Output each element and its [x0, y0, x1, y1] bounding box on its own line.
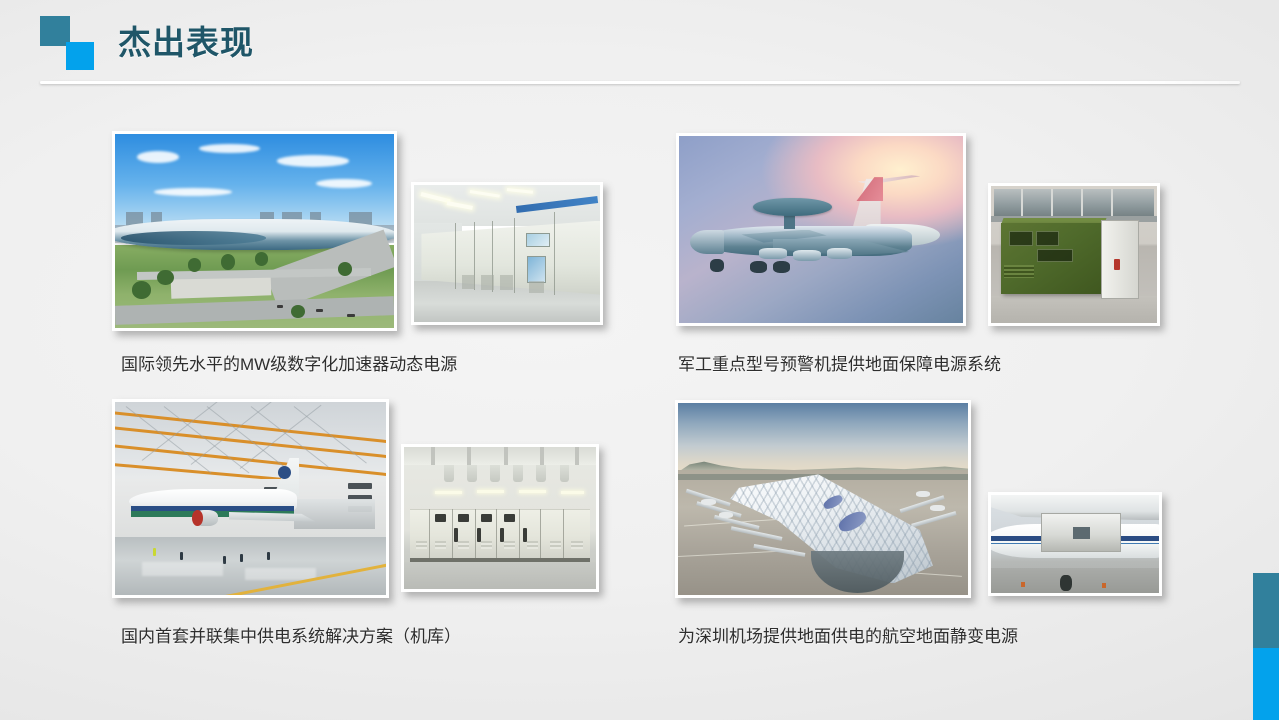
photo-shenzhen-airport-terminal-aerial — [675, 400, 971, 598]
parked-aircraft — [701, 499, 716, 505]
upper-window-band — [994, 189, 1153, 219]
exhaust-duct — [560, 465, 570, 482]
safety-cone — [1021, 582, 1025, 587]
cloud — [316, 179, 372, 189]
vehicle — [277, 305, 283, 308]
edge-accent-bar — [1253, 573, 1279, 720]
window-mullion — [1051, 189, 1053, 219]
cabinet-vent — [571, 541, 583, 550]
photo-military-green-power-shelter — [988, 183, 1160, 326]
oval-facility-glazing — [121, 231, 266, 245]
engine-nacelle — [759, 248, 787, 259]
floor-reflection — [142, 562, 223, 576]
hangar-worker — [267, 552, 270, 560]
cloud — [277, 155, 350, 167]
floor-reflection — [245, 568, 315, 580]
ceiling-beam — [540, 447, 544, 465]
window-mullion — [1021, 189, 1023, 219]
photo-aircraft-hangar-interior — [112, 399, 389, 598]
parked-aircraft — [916, 491, 931, 497]
edge-accent-top — [1253, 573, 1279, 648]
cabinet-vent — [462, 275, 475, 289]
exhaust-duct — [490, 465, 500, 482]
exhaust-duct — [513, 465, 523, 482]
cabinet-indicator-panel — [526, 233, 550, 247]
tree — [132, 281, 152, 298]
shelter-label-plate — [1009, 231, 1033, 245]
exhaust-duct — [536, 465, 546, 482]
cabinet-vent — [527, 541, 539, 550]
cabinet-control-panel — [458, 514, 470, 523]
fluorescent-tube — [561, 491, 584, 494]
photo-parallel-power-cabinet-room — [401, 444, 599, 592]
exhaust-duct — [444, 465, 454, 482]
cabinet-vent — [481, 275, 494, 290]
caption-shenzhen-airport: 为深圳机场提供地面供电的航空地面静变电源 — [678, 622, 1018, 647]
room-floor — [404, 562, 596, 589]
photo-awacs-aircraft-in-flight — [676, 133, 966, 326]
logo-square-bright-icon — [66, 42, 94, 70]
window-mullion — [1081, 189, 1083, 219]
cabinet-vent — [458, 541, 470, 550]
vehicle — [347, 314, 355, 317]
cabinet-vent — [435, 541, 447, 550]
exhaust-duct — [467, 465, 477, 482]
cabinet-seam — [452, 509, 453, 557]
photo-accelerator-power-cabinets — [411, 182, 603, 325]
fluorescent-tube — [477, 490, 504, 493]
parked-aircraft — [719, 512, 734, 518]
window-mullion — [1111, 189, 1113, 219]
vehicle — [316, 309, 323, 312]
safety-cone — [1102, 583, 1106, 588]
jet-bridge-window — [1073, 527, 1090, 539]
nose-landing-gear — [710, 259, 724, 272]
ceiling-beam — [504, 447, 508, 465]
cabinet-vent — [550, 541, 562, 550]
ceiling-beam — [467, 447, 471, 465]
cabinet-seam — [554, 212, 555, 294]
cabinet-control-panel — [435, 514, 447, 523]
shelter-louver-vent — [1004, 265, 1034, 277]
wall-window — [348, 483, 372, 489]
tree — [188, 258, 202, 272]
main-landing-gear — [750, 261, 767, 272]
cabinet-seam — [563, 509, 564, 557]
hangar-worker — [240, 554, 243, 562]
cabinet-seam — [496, 509, 497, 557]
cabinet-seam — [455, 223, 456, 289]
ceiling-beam — [575, 447, 579, 465]
shelter-label-plate — [1036, 231, 1060, 245]
hangar-worker — [223, 556, 226, 564]
caption-awacs: 军工重点型号预警机提供地面保障电源系统 — [678, 350, 1001, 375]
tree — [291, 305, 305, 319]
caption-accelerator: 国际领先水平的MW级数字化加速器动态电源 — [121, 350, 457, 375]
engine-intake-cover — [192, 510, 203, 525]
tree — [157, 270, 174, 286]
cabinet-control-panel — [481, 514, 493, 523]
hangar-worker — [180, 552, 183, 560]
maintenance-docking-platform — [294, 499, 375, 530]
fluorescent-tube — [519, 490, 546, 493]
engine-nacelle — [827, 248, 853, 259]
main-landing-gear — [773, 261, 790, 272]
cabinet-vent — [500, 275, 513, 290]
tree — [255, 252, 269, 266]
cabinet-seam — [514, 218, 515, 293]
cabinet-seam — [429, 509, 430, 557]
cabinet-seam — [540, 509, 541, 557]
fire-extinguisher-icon — [1114, 259, 1121, 270]
edge-accent-bottom — [1253, 648, 1279, 720]
title-divider — [40, 81, 1240, 84]
photo-accelerator-facility-aerial — [112, 131, 397, 331]
page-title: 杰出表现 — [118, 16, 254, 64]
cabinet-vent — [416, 541, 428, 550]
cabinet-vent — [504, 541, 516, 550]
sky — [678, 403, 968, 472]
caption-hangar: 国内首套并联集中供电系统解决方案（机库） — [121, 622, 461, 647]
cabinet-vent — [529, 281, 544, 293]
engine-nacelle — [793, 250, 821, 261]
hangar-worker — [153, 548, 156, 556]
fluorescent-tube — [435, 491, 462, 494]
ceiling-beam — [431, 447, 435, 465]
cabinet-touch-display — [527, 256, 546, 283]
landing-gear — [1060, 575, 1072, 591]
shelter-access-hatch — [1037, 249, 1072, 262]
logo-mark — [40, 16, 114, 68]
nose-radome — [690, 230, 724, 254]
cabinet-seam — [475, 509, 476, 557]
cabinet-control-panel — [504, 514, 516, 523]
cabinet-seam — [519, 509, 520, 557]
slide-root: 杰出表现 — [0, 0, 1279, 720]
tree — [338, 262, 352, 276]
tree — [221, 254, 235, 270]
ground — [991, 296, 1157, 323]
photo-jet-bridge-aircraft-ground-power — [988, 492, 1162, 596]
cabinet-vent — [481, 541, 493, 550]
parked-aircraft — [930, 505, 945, 511]
apron-ground — [991, 568, 1159, 593]
